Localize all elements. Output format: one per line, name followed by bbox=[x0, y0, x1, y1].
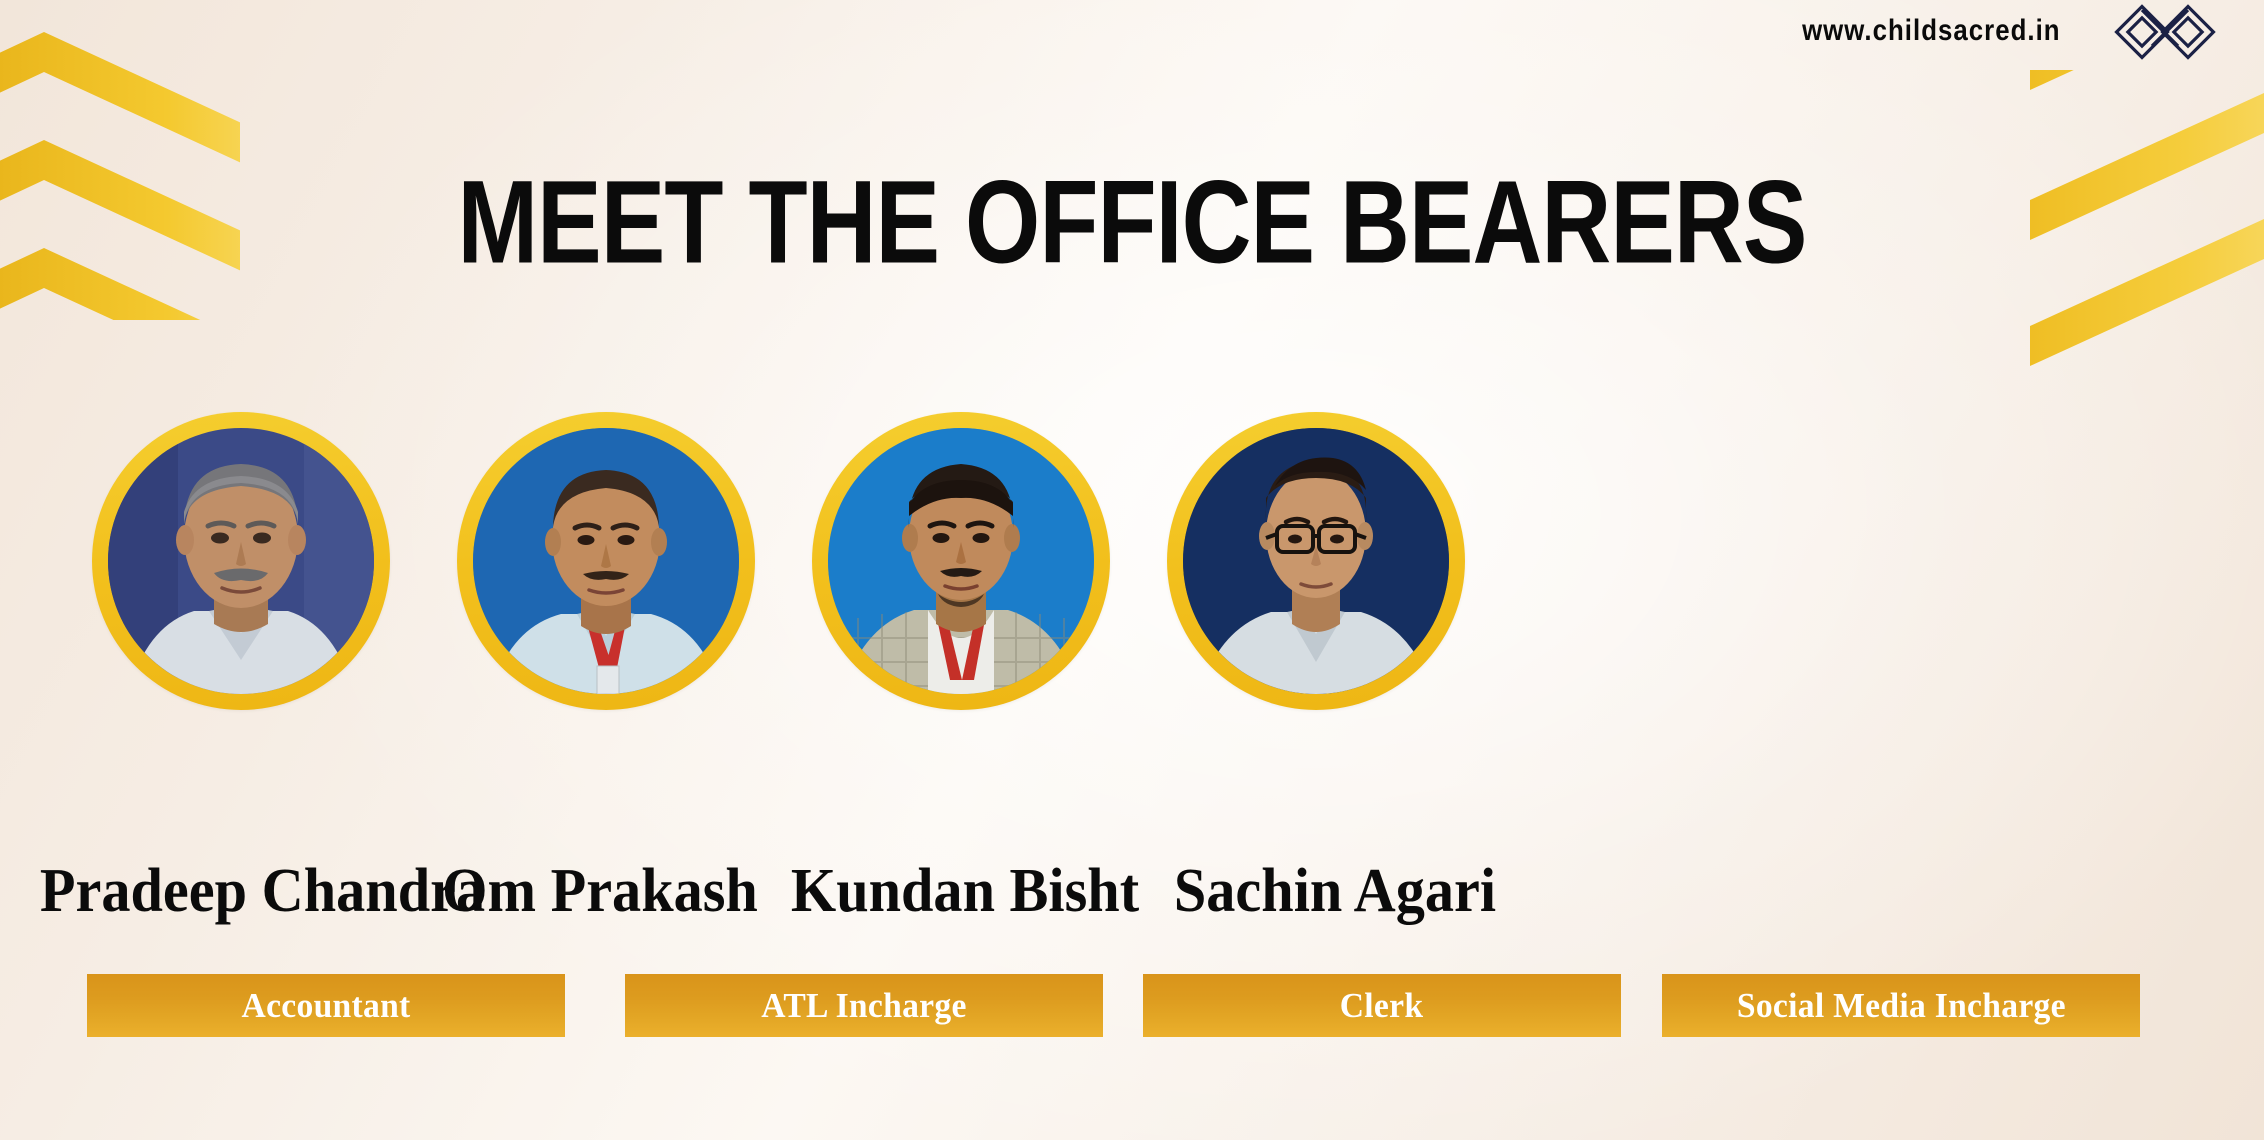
portrait-sachin-agari bbox=[1183, 428, 1449, 694]
website-url: www.childsacred.in bbox=[1803, 14, 2061, 48]
role-label-2: ATL Incharge bbox=[761, 987, 966, 1025]
role-banner-2: ATL Incharge bbox=[625, 974, 1103, 1037]
role-label-3: Clerk bbox=[1340, 987, 1424, 1025]
member-name-3: Kundan Bisht bbox=[782, 855, 1149, 927]
portrait-svg-1 bbox=[108, 428, 374, 694]
members-role-row: Accountant ATL Incharge Clerk Social Med… bbox=[0, 974, 2264, 1048]
role-label-1: Accountant bbox=[241, 987, 410, 1025]
portrait-om-prakash bbox=[473, 428, 739, 694]
member-card-1[interactable] bbox=[92, 412, 390, 710]
member-name-4: Sachin Agari bbox=[1152, 855, 1519, 927]
portrait-svg-3 bbox=[828, 428, 1094, 694]
portrait-svg-2 bbox=[473, 428, 739, 694]
photo-ring-3 bbox=[812, 412, 1110, 710]
logo-svg bbox=[2108, 4, 2228, 66]
page-title: MEET THE OFFICE BEARERS bbox=[79, 164, 2185, 282]
role-label-4: Social Media Incharge bbox=[1737, 987, 2066, 1025]
role-banner-3: Clerk bbox=[1143, 974, 1621, 1037]
poster-canvas: www.childsacred.in MEET THE OFFICE BEARE… bbox=[0, 0, 2264, 1140]
photo-ring-1 bbox=[92, 412, 390, 710]
portrait-kundan-bisht bbox=[828, 428, 1094, 694]
member-name-1: Pradeep Chandra bbox=[40, 855, 444, 927]
member-card-3[interactable] bbox=[812, 412, 1110, 710]
member-card-2[interactable] bbox=[457, 412, 755, 710]
role-banner-1: Accountant bbox=[87, 974, 565, 1037]
member-name-2: Om Prakash bbox=[431, 855, 769, 927]
portrait-pradeep-chandra bbox=[108, 428, 374, 694]
members-name-row: Pradeep Chandra Om Prakash Kundan Bisht … bbox=[0, 855, 2264, 935]
member-card-4[interactable] bbox=[1167, 412, 1465, 710]
role-banner-4: Social Media Incharge bbox=[1662, 974, 2140, 1037]
portrait-svg-4 bbox=[1183, 428, 1449, 694]
members-photo-row bbox=[0, 412, 2264, 842]
photo-ring-4 bbox=[1167, 412, 1465, 710]
photo-ring-2 bbox=[457, 412, 755, 710]
interlocking-diamonds-logo bbox=[2108, 4, 2228, 66]
